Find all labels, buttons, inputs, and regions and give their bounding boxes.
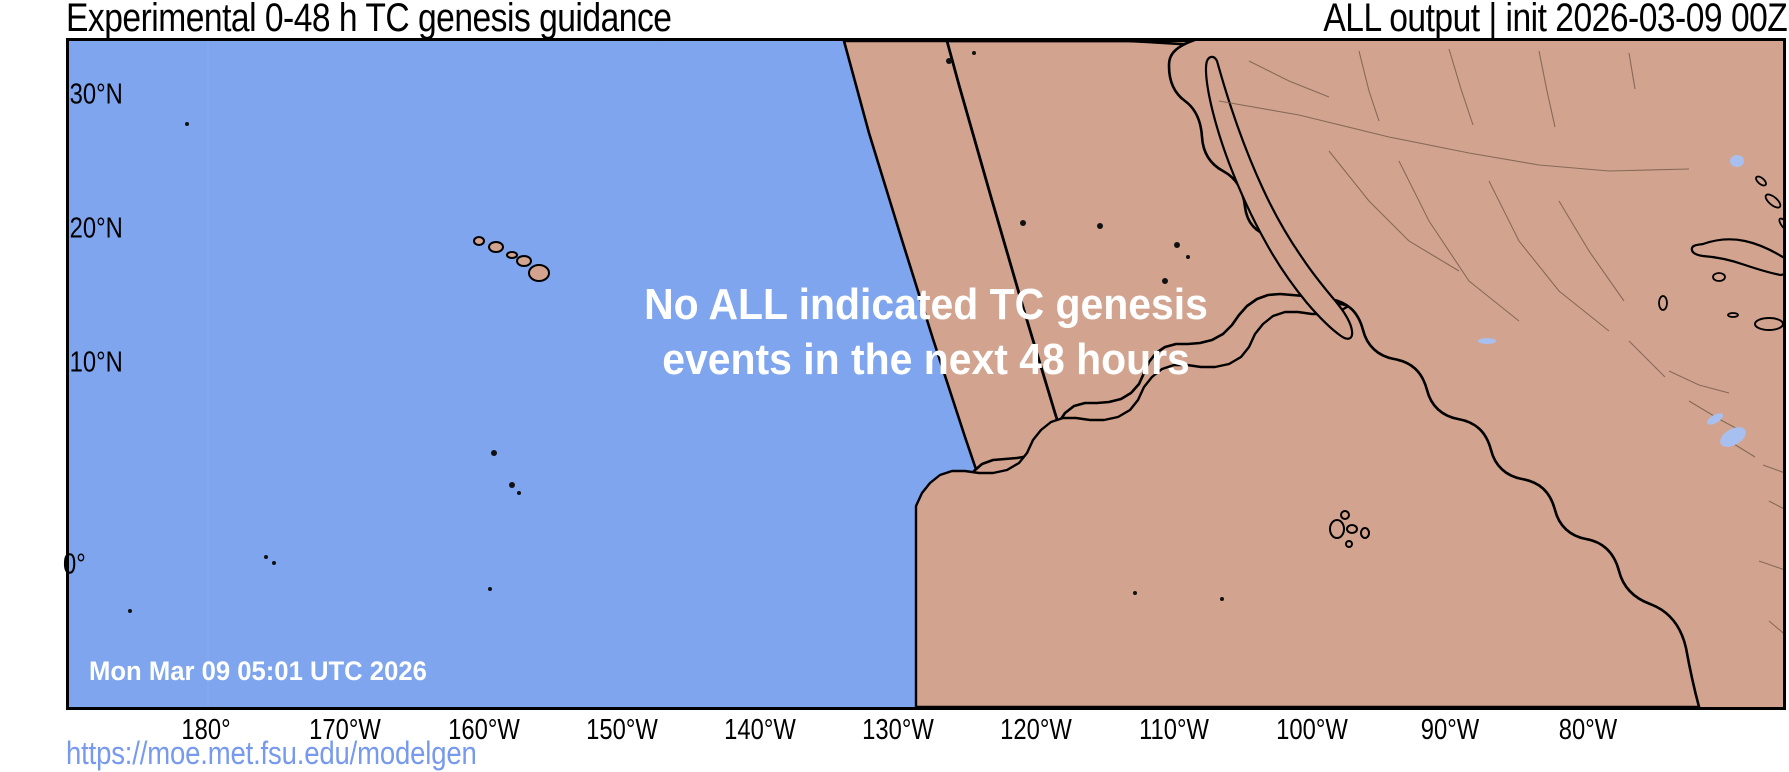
jamaica (1755, 318, 1783, 330)
hawaii-oahu (489, 242, 503, 252)
galapagos-santiago (1341, 511, 1349, 519)
x-tick-150w: 150°W (586, 714, 658, 747)
islet-2 (264, 555, 268, 559)
islet-5 (509, 482, 515, 488)
y-tick-10n: 10°N (70, 347, 123, 380)
timestamp-label: Mon Mar 09 05:01 UTC 2026 (89, 656, 427, 687)
x-tick-90w: 90°W (1421, 714, 1479, 747)
islet-6 (517, 491, 521, 495)
genesis-guidance-page: Experimental 0-48 h TC genesis guidance … (0, 0, 1789, 768)
x-tick-100w: 100°W (1276, 714, 1348, 747)
islet-10 (946, 58, 952, 64)
page-title: Experimental 0-48 h TC genesis guidance (66, 0, 671, 41)
status-text: ALL output | init 2026-03-09 00Z (1323, 0, 1787, 41)
x-tick-80w: 80°W (1559, 714, 1617, 747)
islet-13 (1174, 242, 1180, 248)
y-tick-0: 0° (63, 549, 86, 582)
islet-9 (1020, 220, 1026, 226)
y-tick-30n: 30°N (70, 79, 123, 112)
no-genesis-line1: No ALL indicated TC genesis (129, 277, 1723, 332)
islet-1 (185, 122, 189, 126)
y-tick-20n: 20°N (70, 213, 123, 246)
map-panel[interactable]: No ALL indicated TC genesis events in th… (66, 38, 1786, 710)
islet-11 (972, 51, 976, 55)
caribbean-islet-1 (1728, 313, 1738, 317)
islet-17 (1220, 597, 1224, 601)
source-url-link[interactable]: https://moe.met.fsu.edu/modelgen (66, 735, 477, 772)
no-genesis-message: No ALL indicated TC genesis events in th… (129, 277, 1723, 388)
galapagos-santacruz (1347, 525, 1357, 533)
islet-16 (1133, 591, 1137, 595)
islet-4 (491, 450, 497, 456)
lake-okeechobee (1730, 155, 1744, 167)
islet-8 (128, 609, 132, 613)
galapagos-isabela (1330, 520, 1344, 538)
hawaii-kauai (474, 237, 484, 245)
islet-12 (1097, 223, 1103, 229)
x-tick-140w: 140°W (724, 714, 796, 747)
x-tick-110w: 110°W (1139, 714, 1209, 747)
galapagos-floreana (1346, 541, 1352, 547)
islet-3 (272, 561, 276, 565)
x-tick-120w: 120°W (1000, 714, 1072, 747)
hawaii-maui (517, 256, 531, 266)
x-tick-130w: 130°W (862, 714, 934, 747)
no-genesis-line2: events in the next 48 hours (129, 332, 1723, 387)
header-bar: Experimental 0-48 h TC genesis guidance … (0, 0, 1789, 40)
hawaii-molokai (507, 252, 517, 258)
galapagos-sancristobal (1361, 528, 1369, 538)
islet-7 (488, 587, 492, 591)
islet-14 (1186, 255, 1190, 259)
